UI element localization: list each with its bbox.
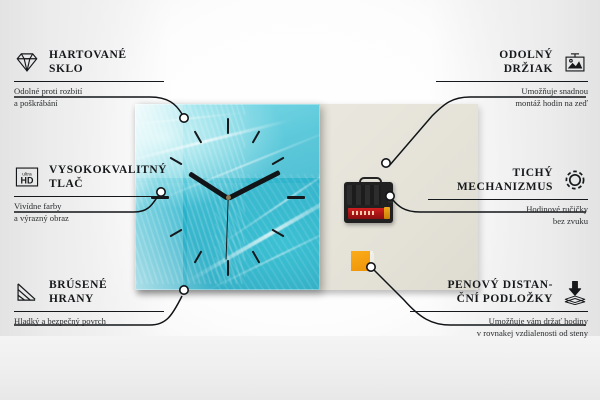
connector-endpoint-6 [367, 263, 375, 271]
feature-title: ODOLNÝ DRŽIAK [499, 48, 553, 76]
ultra-hd-icon: ultra HD [14, 164, 40, 190]
feature-subtitle-line2: bez zvuku [428, 216, 588, 228]
connector-endpoint-4 [382, 159, 390, 167]
feature-heading-row: HARTOVANÉ SKLO [14, 48, 164, 76]
connector-endpoint-1 [180, 114, 188, 122]
feature-subtitle-line1: Umožňuje snadnou [436, 86, 588, 98]
feature-title: TICHÝ MECHANIZMUS [457, 166, 553, 194]
connector-endpoint-5 [386, 192, 394, 200]
feature-high-quality-print: ultra HD VYSOKOKVALITNÝ TLAČ Vivídne far… [14, 163, 164, 224]
connector-endpoint-3 [180, 286, 188, 294]
feature-subtitle-line1: Umožňuje vám držať hodiny [410, 316, 588, 328]
feature-divider [410, 311, 588, 312]
product-infographic: HARTOVANÉ SKLO Odolné proti rozbití a po… [0, 0, 600, 400]
feature-tempered-glass: HARTOVANÉ SKLO Odolné proti rozbití a po… [14, 48, 164, 109]
feature-subtitle-line2: v rovnakej vzdialenosti od steny [410, 328, 588, 340]
spacer-pad-icon [562, 279, 588, 305]
feature-title: PENOVÝ DISTAN- ČNÍ PODLOŽKY [447, 278, 553, 306]
feature-heading-row: ultra HD VYSOKOKVALITNÝ TLAČ [14, 163, 164, 191]
feature-foam-spacers: PENOVÝ DISTAN- ČNÍ PODLOŽKY Umožňuje vám… [410, 278, 588, 339]
feature-ground-edges: BRÚSENÉ HRANY Hladký a bezpečný povrch [14, 278, 164, 328]
feature-divider [428, 199, 588, 200]
feature-title: BRÚSENÉ HRANY [49, 278, 107, 306]
feature-heading-row: PENOVÝ DISTAN- ČNÍ PODLOŽKY [410, 278, 588, 306]
feature-subtitle-line1: Odolné proti rozbití [14, 86, 164, 98]
feature-title: VYSOKOKVALITNÝ TLAČ [49, 163, 167, 191]
feature-subtitle-line2: a výrazný obraz [14, 213, 164, 225]
feature-subtitle-line1: Hladký a bezpečný povrch [14, 316, 164, 328]
feature-subtitle-line1: Hodinové ručičky [428, 204, 588, 216]
feature-subtitle-line2: montáž hodin na zeď [436, 98, 588, 110]
feature-durable-hanger: ODOLNÝ DRŽIAK Umožňuje snadnou montáž ho… [436, 48, 588, 109]
gear-icon [562, 167, 588, 193]
feature-silent-mechanism: TICHÝ MECHANIZMUS Hodinové ručičky bez z… [428, 166, 588, 227]
diamond-icon [14, 49, 40, 75]
feature-subtitle-line2: a poškrábání [14, 98, 164, 110]
feature-title: HARTOVANÉ SKLO [49, 48, 127, 76]
feature-heading-row: BRÚSENÉ HRANY [14, 278, 164, 306]
feature-divider [436, 81, 588, 82]
feature-divider [14, 196, 164, 197]
feature-divider [14, 81, 164, 82]
feature-divider [14, 311, 164, 312]
wall-hanger-icon [562, 49, 588, 75]
ultra-hd-icon-hd-label: HD [21, 176, 34, 186]
feature-heading-row: TICHÝ MECHANIZMUS [428, 166, 588, 194]
feature-heading-row: ODOLNÝ DRŽIAK [436, 48, 588, 76]
feature-subtitle-line1: Vivídne farby [14, 201, 164, 213]
ground-edges-icon [14, 279, 40, 305]
